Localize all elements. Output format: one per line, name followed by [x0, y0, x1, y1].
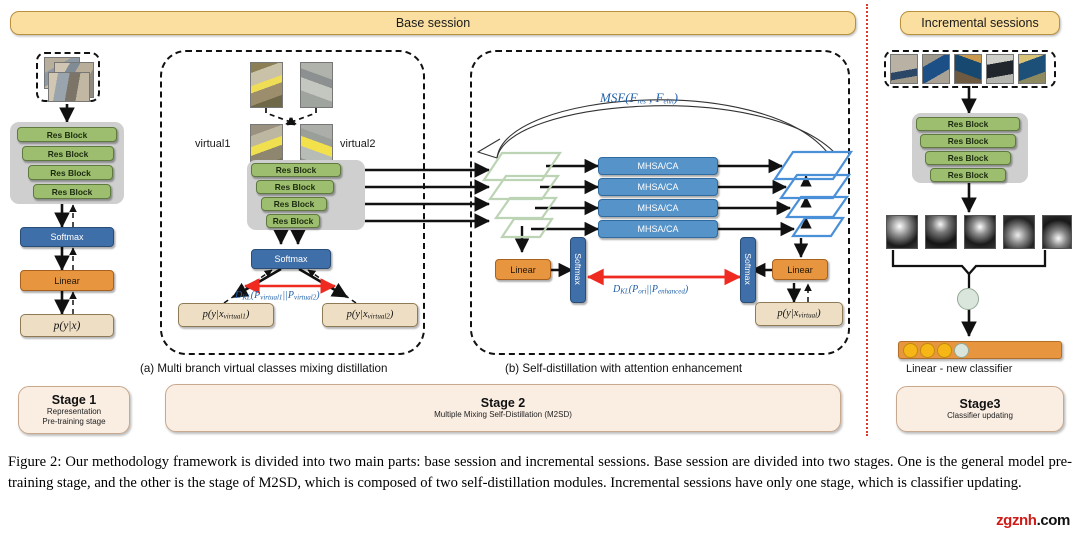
figure-caption: Figure 2: Our methodology framework is d… — [8, 452, 1072, 493]
panel-a-res-block-2: Res Block — [256, 180, 334, 194]
panel-b-kl-mid: ||P — [646, 284, 658, 295]
stage1-res-block-4: Res Block — [33, 184, 111, 199]
figure-diagram: Base session Incremental sessions Res Bl… — [0, 0, 1080, 440]
stage1-res-block-2: Res Block — [22, 146, 114, 161]
panel-a-kl-formula: DKL(Pvirtual1||Pvirtual2) — [235, 290, 320, 302]
panel-b-prob-box: p(y|xvirtual) — [755, 302, 843, 326]
classifier-slot-1 — [903, 343, 918, 358]
panel-a-res-block-4-label: Res Block — [273, 216, 314, 226]
banner-incremental-sessions: Incremental sessions — [900, 11, 1060, 35]
panel-b-softmax-right: Softmax — [740, 237, 756, 303]
new-class-prototype — [957, 288, 979, 310]
panel-a-prob-left-sub: virtual1 — [224, 313, 246, 321]
stage1-title: Stage 1 — [52, 393, 96, 407]
stage3-res-block-3-label: Res Block — [948, 153, 989, 163]
panel-a-kl-body: (P — [251, 290, 260, 301]
panel-b-mse-head: MSE(F — [600, 90, 638, 105]
panel-a-prob-right-sub: virtual2 — [368, 313, 390, 321]
stage1-res-block-4-label: Res Block — [52, 187, 93, 197]
feature-map-5 — [1042, 215, 1072, 249]
stage3-res-block-1-label: Res Block — [948, 119, 989, 129]
stage1-linear: Linear — [20, 270, 114, 291]
panel-a-kl-p1sub: virtual1 — [260, 294, 282, 302]
panel-b-mhsa-4-label: MHSA/CA — [637, 224, 678, 234]
feature-map-2 — [925, 215, 957, 249]
panel-a-softmax-label: Softmax — [274, 254, 307, 264]
stage2-title: Stage 2 — [481, 396, 525, 410]
watermark-red: zgznh — [996, 512, 1037, 529]
stage3-res-block-2: Res Block — [920, 134, 1016, 148]
panel-b-mse-sub1: res — [638, 98, 646, 106]
feature-map-3 — [964, 215, 996, 249]
stage3-res-block-1: Res Block — [916, 117, 1020, 131]
panel-b-linear-left-label: Linear — [510, 265, 536, 275]
stage3-res-block-4-label: Res Block — [948, 170, 989, 180]
panel-a-kl-mid: ||P — [282, 290, 294, 301]
panel-a-res-block-1-label: Res Block — [276, 165, 317, 175]
panel-a-softmax: Softmax — [251, 249, 331, 269]
stage1-res-block-3-label: Res Block — [50, 168, 91, 178]
stage1-prob-box: p(y|x) — [20, 314, 114, 337]
panel-b-kl-sub: KL — [620, 288, 629, 296]
watermark: zgznh.com — [996, 512, 1070, 529]
panel-a-prob-box-right: p(y|xvirtual2) — [322, 303, 418, 327]
banner-base-session: Base session — [10, 11, 856, 35]
panel-b-mse-tail: ) — [674, 90, 678, 105]
stage2-box: Stage 2 Multiple Mixing Self-Distillatio… — [165, 384, 841, 432]
panel-b-prob-main: p(y|x — [777, 308, 798, 319]
stage1-sub-2: Pre-training stage — [42, 417, 105, 427]
panel-b-mse-mid: , F — [646, 90, 664, 105]
panel-a-res-block-3-label: Res Block — [274, 199, 315, 209]
classifier-slot-new — [954, 343, 969, 358]
panel-a-kl-sub: KL — [242, 294, 251, 302]
incremental-thumbnail-5 — [1018, 54, 1046, 84]
panel-a-prob-right-main: p(y|x — [347, 309, 368, 320]
panel-a-res-block-3: Res Block — [261, 197, 327, 211]
panel-a-source-image-2 — [300, 62, 333, 108]
stage3-res-block-2-label: Res Block — [948, 136, 989, 146]
stage1-res-block-1-label: Res Block — [47, 130, 88, 140]
panel-a-res-block-4: Res Block — [266, 214, 320, 228]
panel-b-mhsa-3-label: MHSA/CA — [637, 203, 678, 213]
incremental-thumbnail-1 — [890, 54, 918, 84]
panel-b-mse-sub2: ehn — [664, 98, 674, 106]
panel-b-mhsa-4: MHSA/CA — [598, 220, 718, 238]
virtual1-label: virtual1 — [195, 138, 230, 150]
panel-b-prob-sub: virtual — [798, 312, 817, 320]
panel-a-source-image-1 — [250, 62, 283, 108]
panel-a-prob-left-tail: ) — [246, 309, 250, 320]
panel-b-mhsa-1: MHSA/CA — [598, 157, 718, 175]
panel-b-caption: (b) Self-distillation with attention enh… — [505, 362, 742, 375]
feature-map-4 — [1003, 215, 1035, 249]
panel-b-linear-left: Linear — [495, 259, 551, 280]
stage3-res-block-3: Res Block — [925, 151, 1011, 165]
panel-b-prob-tail: ) — [817, 308, 821, 319]
stage1-box: Stage 1 Representation Pre-training stag… — [18, 386, 130, 434]
panel-b-mhsa-2: MHSA/CA — [598, 178, 718, 196]
stage1-sub-1: Representation — [47, 407, 101, 417]
stage2-sub: Multiple Mixing Self-Distillation (M2SD) — [434, 410, 572, 420]
watermark-dark: .com — [1037, 512, 1070, 529]
virtual2-label: virtual2 — [340, 138, 375, 150]
panel-a-kl-tail: ) — [316, 290, 319, 301]
panel-b-mhsa-2-label: MHSA/CA — [637, 182, 678, 192]
panel-b-softmax-left: Softmax — [570, 237, 586, 303]
panel-a-prob-box-left: p(y|xvirtual1) — [178, 303, 274, 327]
classifier-slot-2 — [920, 343, 935, 358]
incremental-thumbnail-4 — [986, 54, 1014, 84]
stage1-softmax-label: Softmax — [50, 232, 83, 242]
stage1-res-block-3: Res Block — [28, 165, 113, 180]
stage3-res-block-4: Res Block — [930, 168, 1006, 182]
panel-b-mse-formula: MSE(Fres , Fehn) — [600, 90, 678, 106]
panel-a-prob-right-tail: ) — [390, 309, 394, 320]
incremental-thumbnail-2 — [922, 54, 950, 84]
panel-b-kl-tail: ) — [685, 284, 688, 295]
classifier-label: Linear - new classifier — [906, 363, 1012, 375]
stage1-res-block-1: Res Block — [17, 127, 117, 142]
section-divider — [866, 4, 868, 436]
panel-b-mhsa-1-label: MHSA/CA — [637, 161, 678, 171]
input-thumbnail-3 — [48, 72, 90, 102]
panel-a-caption: (a) Multi branch virtual classes mixing … — [140, 362, 387, 375]
panel-a-prob-left-main: p(y|x — [203, 309, 224, 320]
stage1-softmax: Softmax — [20, 227, 114, 247]
incremental-thumbnail-3 — [954, 54, 982, 84]
stage3-title: Stage3 — [960, 397, 1001, 411]
panel-b-softmax-left-label: Softmax — [573, 251, 583, 287]
panel-b-kl-formula: DKL(Pori||Penhanced) — [613, 284, 688, 296]
feature-map-1 — [886, 215, 918, 249]
stage3-box: Stage3 Classifier updating — [896, 386, 1064, 432]
panel-b-linear-right: Linear — [772, 259, 828, 280]
stage1-prob-label: p(y|x) — [54, 320, 81, 332]
panel-b-softmax-right-label: Softmax — [743, 251, 753, 287]
panel-a-kl-p2sub: virtual2 — [294, 294, 316, 302]
banner-incremental-sessions-label: Incremental sessions — [921, 16, 1038, 30]
classifier-slot-3 — [937, 343, 952, 358]
stage1-linear-label: Linear — [54, 276, 80, 286]
panel-b-kl-body: (P — [629, 284, 638, 295]
panel-b-mhsa-3: MHSA/CA — [598, 199, 718, 217]
stage3-sub: Classifier updating — [947, 411, 1013, 421]
panel-a-res-block-1: Res Block — [251, 163, 341, 177]
panel-b-kl-p2sub: enhanced — [658, 288, 685, 296]
panel-b-linear-right-label: Linear — [787, 265, 813, 275]
panel-a-res-block-2-label: Res Block — [275, 182, 316, 192]
banner-base-session-label: Base session — [396, 16, 470, 30]
stage1-res-block-2-label: Res Block — [48, 149, 89, 159]
